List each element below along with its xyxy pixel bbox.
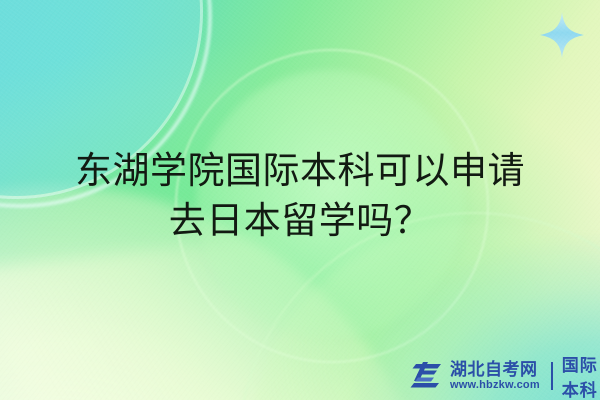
logo-divider bbox=[551, 362, 553, 390]
logo-wordmark: 湖北自考网 www.hbzkw.com bbox=[450, 361, 540, 391]
headline-line-1: 东湖学院国际本科可以申请 bbox=[0, 146, 600, 196]
sparkle-icon bbox=[540, 12, 584, 58]
headline-line-2: 去日本留学吗？ bbox=[0, 196, 600, 246]
hbzkw-logo-mark-icon bbox=[410, 361, 444, 391]
logo-brand-name: 湖北自考网 bbox=[450, 361, 540, 378]
banner-headline: 东湖学院国际本科可以申请 去日本留学吗？ bbox=[0, 146, 600, 246]
logo-tagline: 国际本科 bbox=[562, 351, 600, 400]
site-logo[interactable]: 湖北自考网 www.hbzkw.com 国际本科 bbox=[410, 358, 600, 394]
promo-banner: 东湖学院国际本科可以申请 去日本留学吗？ 湖北自考网 www.hbzkw.com… bbox=[0, 0, 600, 400]
logo-website-url: www.hbzkw.com bbox=[450, 380, 540, 391]
